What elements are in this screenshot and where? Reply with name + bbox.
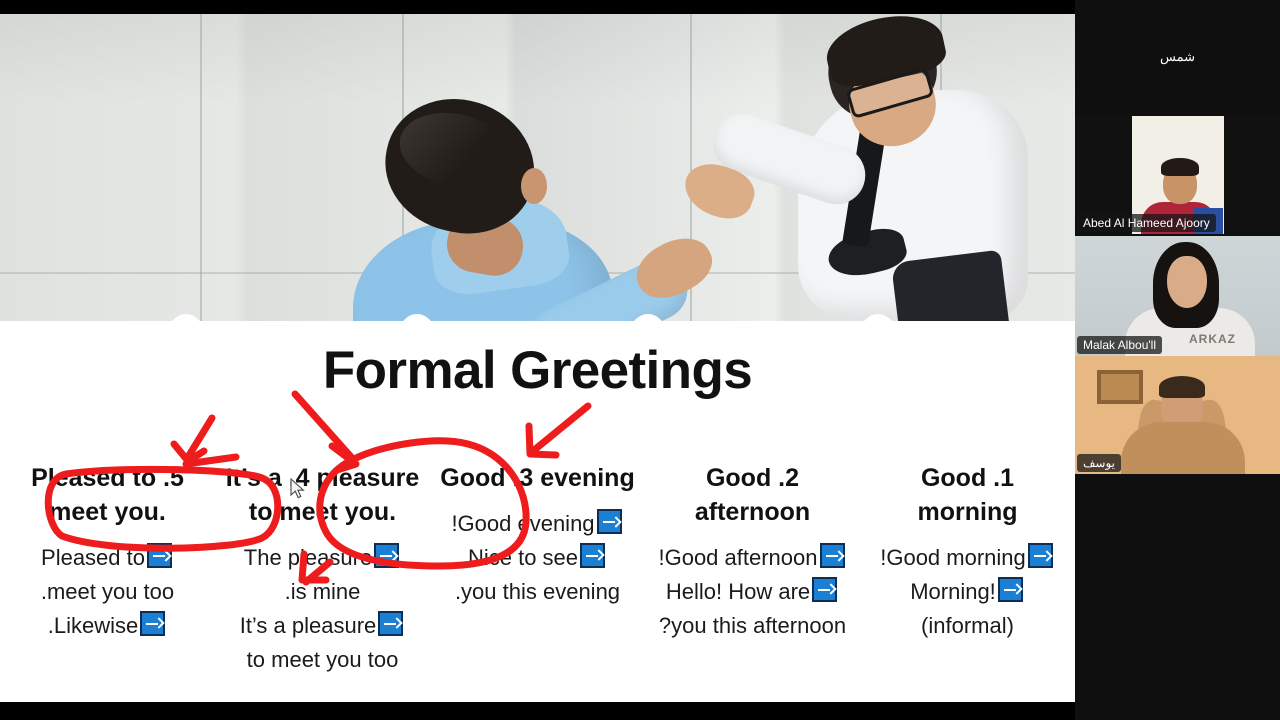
- self-participant-label: شمس: [1075, 49, 1280, 65]
- mouse-cursor: [290, 478, 306, 500]
- right-arrow-icon: [580, 543, 605, 568]
- greeting-line: The pleasure: [223, 541, 422, 575]
- greeting-column-heading: Good .3 evening: [438, 461, 637, 495]
- greeting-column-1: Good .1 morning!Good morningMorning!(inf…: [860, 461, 1075, 677]
- greeting-line-text: .Likewise: [48, 613, 138, 638]
- greeting-line: .Likewise: [8, 609, 207, 643]
- right-arrow-icon: [147, 543, 172, 568]
- participant-hair: [1161, 158, 1199, 176]
- participant-name-label: Abed Al Hameed Ajoory: [1077, 214, 1216, 232]
- right-arrow-icon: [820, 543, 845, 568]
- hoodie-logo-text: ARKAZ: [1189, 332, 1236, 346]
- greeting-line-text: .meet you too: [41, 579, 174, 604]
- greeting-line-text: ?you this afternoon: [659, 613, 846, 638]
- trouser-leg: [891, 250, 1011, 321]
- slide-body: Formal Greetings Good .1 morning!Good mo…: [0, 321, 1075, 702]
- greeting-column-heading: Good .2 afternoon: [653, 461, 852, 529]
- page-title: Formal Greetings: [0, 340, 1075, 401]
- right-arrow-icon: [597, 509, 622, 534]
- greeting-column-4: It’s a .4 pleasure to meet you.The pleas…: [215, 461, 430, 677]
- greeting-column-heading: It’s a .4 pleasure to meet you.: [223, 461, 422, 529]
- greeting-line: Morning!: [868, 575, 1067, 609]
- greeting-line: !Good afternoon: [653, 541, 852, 575]
- greeting-line-text: !Good evening: [451, 511, 594, 536]
- right-arrow-icon: [374, 543, 399, 568]
- wall-seam: [200, 14, 202, 321]
- greeting-line: Hello! How are: [653, 575, 852, 609]
- greeting-line-text: Pleased to: [41, 545, 145, 570]
- shared-slide-stage[interactable]: Formal Greetings Good .1 morning!Good mo…: [0, 14, 1075, 702]
- greeting-line: Nice to see: [438, 541, 637, 575]
- greeting-column-heading: Pleased to .5 meet you.: [8, 461, 207, 529]
- greeting-column-5: Pleased to .5 meet you.Pleased to.meet y…: [0, 461, 215, 677]
- greeting-line-text: .you this evening: [455, 579, 620, 604]
- greeting-line-text: .is mine: [285, 579, 361, 604]
- greeting-line: !Good morning: [868, 541, 1067, 575]
- greeting-column-heading: Good .1 morning: [868, 461, 1067, 529]
- greeting-line-text: !Good morning: [880, 545, 1026, 570]
- right-arrow-icon: [140, 611, 165, 636]
- greetings-columns: Good .1 morning!Good morningMorning!(inf…: [0, 461, 1075, 677]
- right-arrow-icon: [378, 611, 403, 636]
- greeting-line-text: Morning!: [910, 579, 996, 604]
- greeting-line-text: It’s a pleasure: [240, 613, 377, 638]
- greeting-line: .you this evening: [438, 575, 637, 609]
- participant-torso: [1121, 422, 1245, 474]
- greeting-line: Pleased to: [8, 541, 207, 575]
- right-arrow-icon: [998, 577, 1023, 602]
- greeting-line-text: Hello! How are: [666, 579, 810, 604]
- right-arrow-icon: [812, 577, 837, 602]
- participant-name-label: يوسف: [1077, 454, 1121, 472]
- greeting-column-lines: !Good eveningNice to see.you this evenin…: [438, 507, 637, 609]
- greeting-line: (informal): [868, 609, 1067, 643]
- right-arrow-icon: [1028, 543, 1053, 568]
- greeting-column-lines: !Good afternoonHello! How are?you this a…: [653, 541, 852, 643]
- greeting-line-text: !Good afternoon: [658, 545, 817, 570]
- participant-name-label: Malak Albou'll: [1077, 336, 1162, 354]
- participant-head: [1167, 256, 1207, 308]
- greeting-line: ?you this afternoon: [653, 609, 852, 643]
- greeting-column-lines: !Good morningMorning!(informal): [868, 541, 1067, 643]
- greeting-line: It’s a pleasure: [223, 609, 422, 643]
- participant-tile[interactable]: Abed Al Hameed Ajoory: [1075, 116, 1280, 234]
- greeting-column-3: Good .3 evening!Good eveningNice to see.…: [430, 461, 645, 677]
- greeting-line: .is mine: [223, 575, 422, 609]
- greeting-column-2: Good .2 afternoon!Good afternoonHello! H…: [645, 461, 860, 677]
- greeting-line-text: to meet you too: [247, 647, 399, 672]
- greeting-line: !Good evening: [438, 507, 637, 541]
- participant-tile[interactable]: يوسف: [1075, 356, 1280, 474]
- greeting-line-text: (informal): [921, 613, 1014, 638]
- screen-root: Formal Greetings Good .1 morning!Good mo…: [0, 0, 1280, 720]
- greeting-line-text: The pleasure: [244, 545, 372, 570]
- ear: [521, 168, 547, 204]
- standing-businessman: [700, 14, 1075, 321]
- participant-tile[interactable]: ARKAZ Malak Albou'll: [1075, 236, 1280, 356]
- participant-hair: [1159, 376, 1205, 398]
- greeting-line: to meet you too: [223, 643, 422, 677]
- seated-businessman: [235, 92, 655, 321]
- greeting-column-lines: The pleasure.is mineIt’s a pleasureto me…: [223, 541, 422, 677]
- wall-picture-frame: [1097, 370, 1143, 404]
- greeting-column-lines: Pleased to.meet you too.Likewise: [8, 541, 207, 643]
- participant-rail: شمس Abed Al Hameed Ajoory ARKAZ Malak Al…: [1075, 0, 1280, 720]
- greeting-line-text: Nice to see: [468, 545, 578, 570]
- slide-header-photo: [0, 14, 1075, 321]
- greeting-line: .meet you too: [8, 575, 207, 609]
